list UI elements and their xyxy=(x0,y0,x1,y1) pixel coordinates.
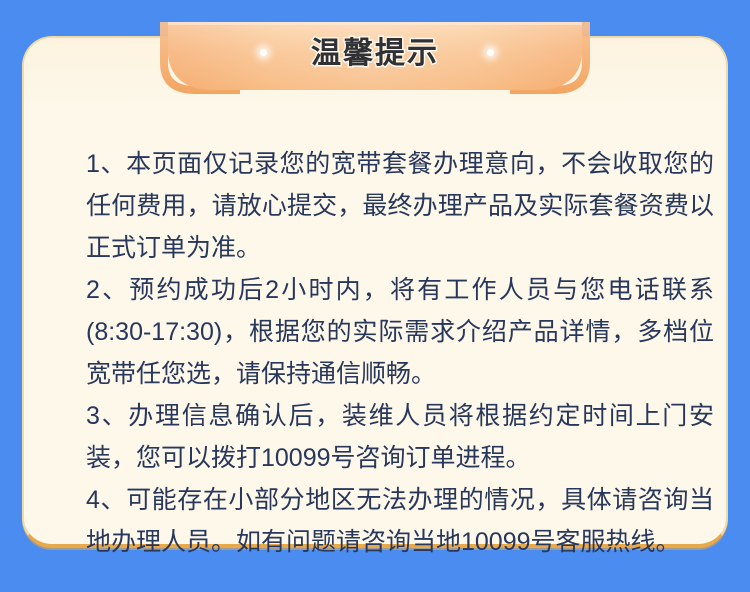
tip-item-4: 4、可能存在小部分地区无法办理的情况，具体请咨询当地办理人员。如有问题请咨询当地… xyxy=(86,479,714,563)
page-root: 1、本页面仅记录您的宽带套餐办理意向，不会收取您的任何费用，请放心提交，最终办理… xyxy=(0,0,750,592)
banner-title: 温馨提示 xyxy=(0,34,750,74)
tip-item-3: 3、办理信息确认后，装维人员将根据约定时间上门安装，您可以拨打10099号咨询订… xyxy=(86,395,714,479)
tip-card: 1、本页面仅记录您的宽带套餐办理意向，不会收取您的任何费用，请放心提交，最终办理… xyxy=(22,36,728,548)
tip-list: 1、本页面仅记录您的宽带套餐办理意向，不会收取您的任何费用，请放心提交，最终办理… xyxy=(86,143,714,563)
tip-item-1: 1、本页面仅记录您的宽带套餐办理意向，不会收取您的任何费用，请放心提交，最终办理… xyxy=(86,143,714,269)
tip-banner: 温馨提示 xyxy=(0,22,750,102)
tip-item-2: 2、预约成功后2小时内，将有工作人员与您电话联系(8:30-17:30)，根据您… xyxy=(86,269,714,395)
